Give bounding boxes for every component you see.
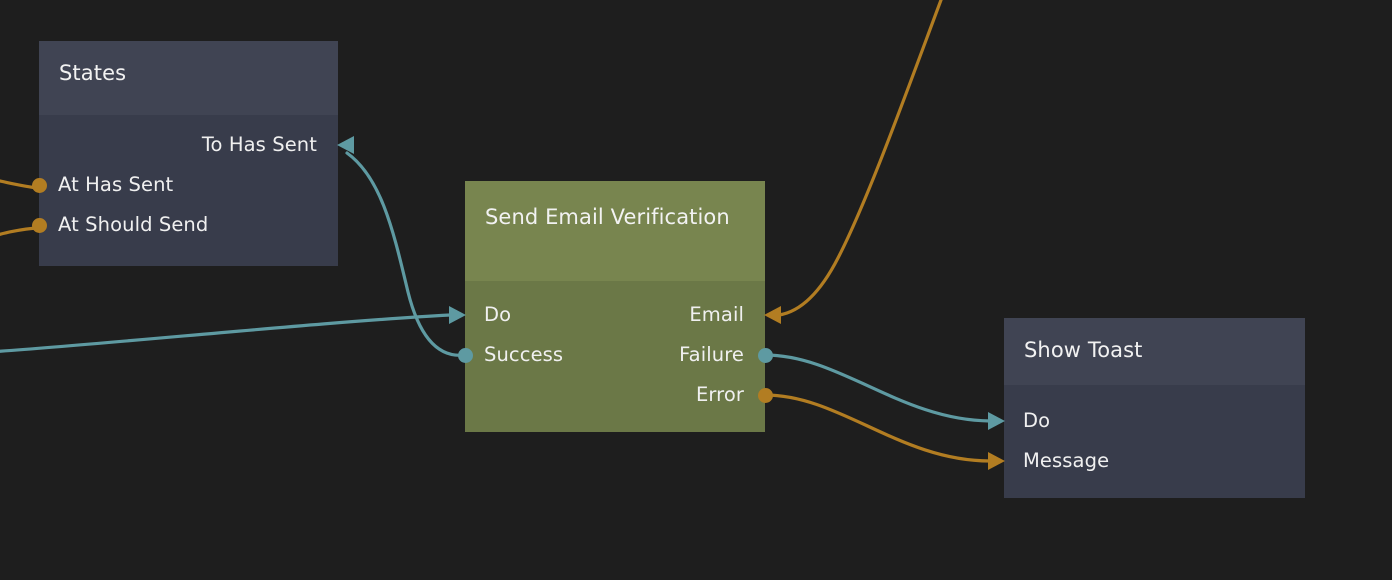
port-send-email-do[interactable]: Do Email <box>465 295 765 335</box>
port-at-should-send[interactable]: At Should Send <box>39 205 338 245</box>
port-show-toast-do[interactable]: Do <box>1004 401 1305 441</box>
node-send-email-verification-header[interactable]: Send Email Verification <box>465 181 765 281</box>
port-send-email-email-label: Email <box>689 295 744 335</box>
node-states-header[interactable]: States <box>39 41 338 115</box>
wire-failure-to-show-toast-do[interactable] <box>765 355 990 421</box>
port-send-email-do-label: Do <box>484 303 511 326</box>
node-send-email-verification-body: Do Email Success Failure Error <box>465 281 765 415</box>
node-states-body: To Has Sent At Has Sent At Should Send <box>39 115 338 245</box>
port-to-has-sent-label: To Has Sent <box>202 133 317 156</box>
port-show-toast-message[interactable]: Message <box>1004 441 1305 481</box>
wire-offscreen-left-to-do[interactable] <box>0 315 450 352</box>
node-show-toast-header[interactable]: Show Toast <box>1004 318 1305 385</box>
node-send-email-verification-title: Send Email Verification <box>485 205 730 229</box>
wire-error-to-show-toast-message[interactable] <box>765 395 990 461</box>
port-show-toast-message-label: Message <box>1023 449 1109 472</box>
port-show-toast-do-label: Do <box>1023 409 1050 432</box>
port-to-has-sent[interactable]: To Has Sent <box>39 125 338 165</box>
node-states[interactable]: States To Has Sent At Has Sent At Should <box>39 41 338 266</box>
node-states-title: States <box>59 61 126 85</box>
node-show-toast-title: Show Toast <box>1024 338 1143 362</box>
port-send-email-success[interactable]: Success Failure <box>465 335 765 375</box>
node-show-toast-body: Do Message <box>1004 385 1305 481</box>
port-send-email-error-label: Error <box>696 383 744 406</box>
port-send-email-error[interactable]: Error <box>465 375 765 415</box>
node-send-email-verification[interactable]: Send Email Verification Do Email Success <box>465 181 765 432</box>
wire-offscreen-top-to-email[interactable] <box>779 0 944 315</box>
wire-success-to-to-has-sent[interactable] <box>347 153 465 355</box>
port-at-has-sent[interactable]: At Has Sent <box>39 165 338 205</box>
port-send-email-success-label: Success <box>484 343 563 366</box>
node-show-toast[interactable]: Show Toast Do Message <box>1004 318 1305 498</box>
node-graph-canvas[interactable]: States To Has Sent At Has Sent At Should <box>0 0 1392 580</box>
port-send-email-failure-label: Failure <box>679 335 744 375</box>
port-at-has-sent-label: At Has Sent <box>58 173 173 196</box>
port-at-should-send-label: At Should Send <box>58 213 208 236</box>
